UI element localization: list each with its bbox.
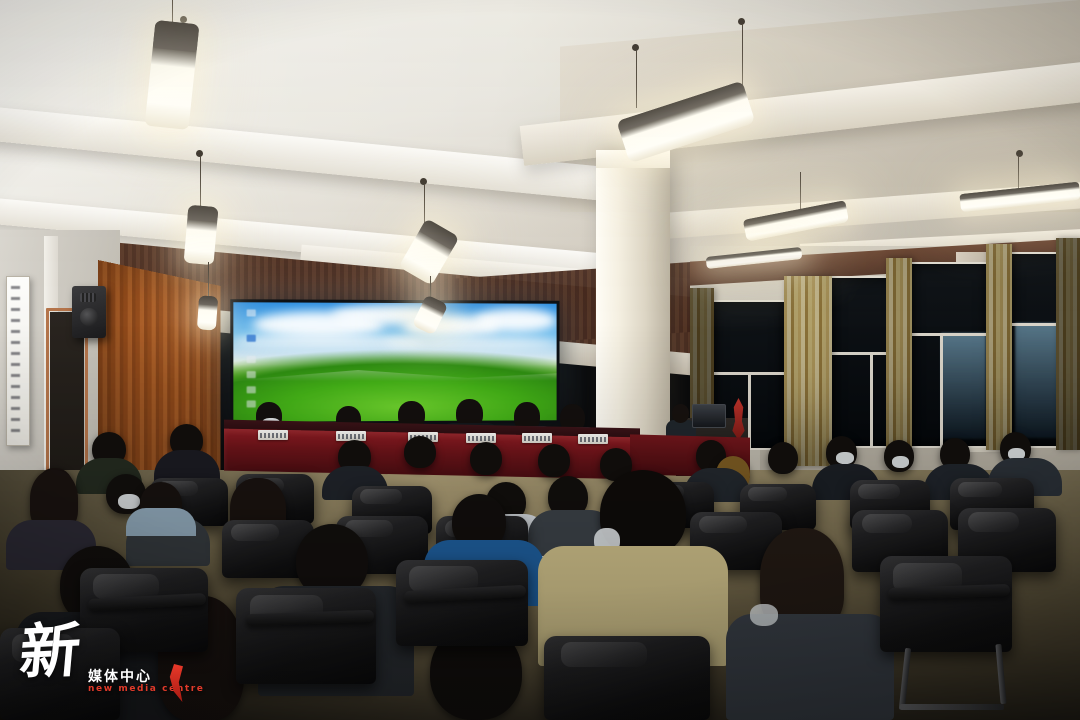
pendant-light <box>197 295 218 330</box>
curtain[interactable] <box>986 244 1012 450</box>
name-placard <box>466 433 496 443</box>
chair-leg <box>900 704 1004 710</box>
watermark-subtitle-en: new media centre <box>88 684 204 694</box>
light-wire <box>636 50 637 108</box>
av-monitor[interactable] <box>692 404 726 428</box>
desktop-icon[interactable] <box>247 356 256 363</box>
audience-head <box>768 442 798 474</box>
audience-chair[interactable] <box>396 560 528 646</box>
cloud <box>384 336 557 351</box>
light-wire <box>1018 156 1019 192</box>
window-mullion <box>910 333 988 336</box>
pendant-light <box>184 205 219 265</box>
wall-speaker-tweeter <box>80 293 96 302</box>
audience-chair[interactable] <box>236 588 376 684</box>
window-mullion <box>870 352 873 446</box>
name-placard <box>522 433 552 443</box>
face-mask <box>750 604 778 626</box>
curtain[interactable] <box>886 258 912 454</box>
face-mask <box>118 494 140 509</box>
window-glow <box>1015 323 1057 438</box>
desktop-icon[interactable] <box>247 400 256 407</box>
light-wire <box>208 262 209 300</box>
face-mask <box>892 456 909 468</box>
desktop-icon[interactable] <box>247 386 256 393</box>
face-mask <box>836 452 854 464</box>
watermark-logo: 新 媒体中心 new media centre <box>18 620 208 706</box>
conference-hall-photo: 新 媒体中心 new media centre <box>0 0 1080 720</box>
watermark-accent-stroke <box>168 664 183 702</box>
av-operator-head <box>672 404 689 423</box>
curtain[interactable] <box>784 276 832 466</box>
led-screen-surface <box>233 302 556 422</box>
curtain[interactable] <box>1056 238 1080 450</box>
light-wire <box>200 156 201 210</box>
audience-chair[interactable] <box>880 556 1012 652</box>
name-placard <box>258 430 288 440</box>
audience-shoulders <box>126 508 196 536</box>
desktop-icon[interactable] <box>247 309 256 316</box>
watermark-logo-glyph: 新 <box>17 621 79 684</box>
audience-head <box>404 436 436 468</box>
audience-shoulders <box>726 614 894 720</box>
window-mullion <box>748 372 751 448</box>
desktop-icon[interactable] <box>247 372 256 379</box>
audience-head <box>538 444 570 477</box>
watermark-subtitle-cn: 媒体中心 <box>88 666 152 686</box>
window-glow <box>941 333 986 439</box>
led-video-wall[interactable] <box>230 299 559 425</box>
name-placard <box>578 434 608 444</box>
window-mullion <box>940 333 943 446</box>
window-bay <box>908 262 990 448</box>
desktop-icon[interactable] <box>247 335 256 342</box>
audience-chair[interactable] <box>544 636 710 720</box>
light-wire <box>172 0 173 24</box>
audience-head <box>470 442 502 475</box>
calligraphy-scroll-text <box>11 286 20 432</box>
wall-speaker-driver <box>80 308 98 326</box>
